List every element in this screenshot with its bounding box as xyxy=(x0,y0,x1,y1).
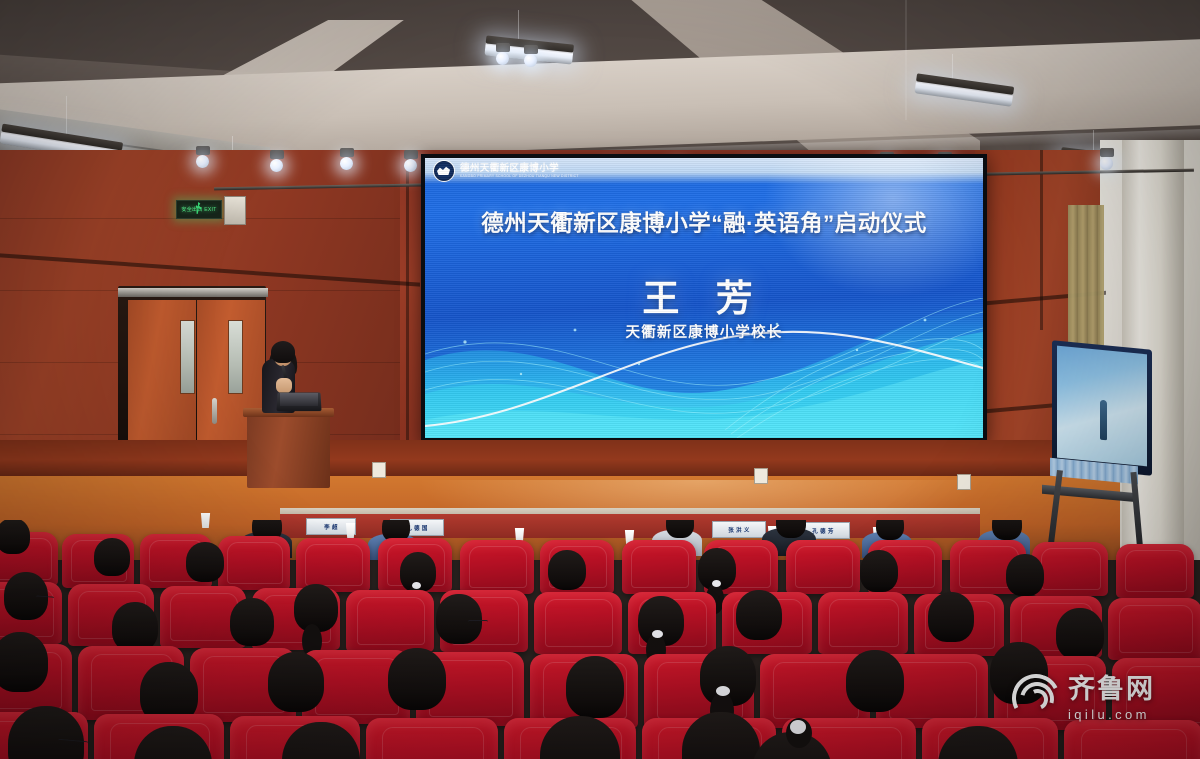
audience-head xyxy=(186,542,224,582)
audience-head xyxy=(876,520,904,540)
wall-seam xyxy=(406,150,409,450)
wall-seam xyxy=(1040,150,1043,330)
watermark: 齐鲁网 iqilu.com xyxy=(1010,672,1155,724)
audience-head xyxy=(1056,608,1104,660)
hair-tie xyxy=(716,686,730,696)
speaker-hair xyxy=(271,341,295,363)
school-emblem-icon xyxy=(433,160,455,182)
speaker-role: 天衢新区康博小学校长 xyxy=(425,321,983,342)
audience-head xyxy=(0,520,30,554)
auditorium-seat[interactable] xyxy=(346,590,434,652)
auditorium-seat[interactable] xyxy=(460,540,534,594)
audience-head xyxy=(928,592,974,642)
audience-head xyxy=(566,656,624,718)
auditorium-seat[interactable] xyxy=(1108,598,1200,660)
wall-control-plate xyxy=(224,196,246,225)
podium xyxy=(247,414,330,488)
auditorium-seat[interactable] xyxy=(1116,544,1194,598)
auditorium-seat[interactable] xyxy=(218,536,290,590)
audience-head xyxy=(0,632,48,692)
auditorium-seat[interactable] xyxy=(366,718,498,759)
door-vision-panel xyxy=(180,320,195,394)
track-spotlight xyxy=(270,159,283,172)
auditorium-seat[interactable] xyxy=(1064,720,1200,759)
audience-head xyxy=(1006,554,1044,596)
track-spotlight xyxy=(340,157,353,170)
ceremony-title: 德州天衢新区康博小学“融·英语角”启动仪式 xyxy=(425,206,983,238)
track-light-body xyxy=(404,150,418,159)
auditorium-seat[interactable] xyxy=(786,540,860,594)
track-light-body xyxy=(524,45,538,54)
hair-tie xyxy=(412,582,421,589)
school-logo-en: KANGBO PRIMARY SCHOOL OF DEZHOU TIANQU N… xyxy=(460,175,579,178)
audience-head xyxy=(860,550,898,592)
track-light-body xyxy=(340,148,354,157)
audience-head xyxy=(992,520,1022,540)
floor-power-socket xyxy=(957,474,971,490)
speaker-hands xyxy=(276,378,292,393)
track-spotlight xyxy=(1100,157,1113,170)
led-screen[interactable]: 德州天衢新区康博小学 KANGBO PRIMARY SCHOOL OF DEZH… xyxy=(425,158,983,438)
audience-head xyxy=(548,550,586,590)
watermark-brand-cn: 齐鲁网 xyxy=(1068,676,1155,703)
audience-head xyxy=(230,598,274,646)
school-logo-cn: 德州天衢新区康博小学 xyxy=(460,164,579,174)
audience-head xyxy=(846,650,904,712)
door-vision-panel xyxy=(228,320,243,394)
audience-head xyxy=(112,602,158,652)
photograph-auditorium-ceremony: 安全出口 EXIT xyxy=(0,0,1200,759)
audience-head xyxy=(388,648,446,710)
track-spotlight xyxy=(196,155,209,168)
ceiling-panel-joint xyxy=(905,0,907,120)
auditorium-seat[interactable] xyxy=(534,592,622,654)
floor-power-socket xyxy=(372,462,386,478)
hair-tie xyxy=(790,720,806,734)
track-spotlight xyxy=(524,54,537,67)
auditorium-seat[interactable] xyxy=(296,538,370,592)
watermark-brand-en: iqilu.com xyxy=(1068,708,1155,721)
audience-head xyxy=(268,652,324,712)
track-light-body xyxy=(196,146,210,155)
floor-power-socket xyxy=(754,468,768,484)
track-light-body xyxy=(496,43,510,52)
audience-head xyxy=(436,594,482,644)
track-spotlight xyxy=(404,159,417,172)
laptop-screen xyxy=(280,393,318,406)
track-light-body xyxy=(1100,148,1114,157)
track-light-body xyxy=(270,150,284,159)
audience-head xyxy=(94,538,130,576)
track-spotlight xyxy=(496,52,509,65)
door-handle[interactable] xyxy=(212,398,217,424)
qilu-logo-icon xyxy=(1010,672,1062,724)
audience-head xyxy=(666,520,694,538)
auditorium-seat[interactable] xyxy=(622,540,696,594)
door-closer xyxy=(118,288,268,297)
speaker-name: 王 芳 xyxy=(425,268,983,322)
stage-front-apron xyxy=(0,440,1120,476)
auditorium-seat[interactable] xyxy=(818,592,908,654)
side-display-content xyxy=(1100,400,1107,441)
hair-tie xyxy=(652,630,663,638)
school-logo: 德州天衢新区康博小学 KANGBO PRIMARY SCHOOL OF DEZH… xyxy=(433,160,579,182)
eyeglasses xyxy=(468,620,488,625)
hair-tie xyxy=(712,580,721,587)
audience-head xyxy=(736,590,782,640)
